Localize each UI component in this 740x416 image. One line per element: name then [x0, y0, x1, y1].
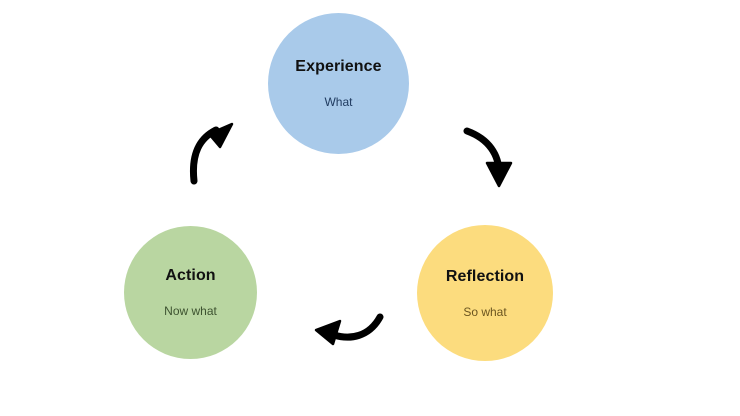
node-reflection-title: Reflection	[446, 269, 524, 285]
node-experience-title: Experience	[295, 59, 381, 75]
arrow-experience-to-reflection-icon	[467, 131, 511, 186]
arrow-action-to-experience-icon	[193, 124, 232, 181]
node-action-title: Action	[165, 268, 215, 284]
node-reflection[interactable]: Reflection So what	[417, 225, 553, 361]
node-experience[interactable]: Experience What	[268, 13, 409, 154]
reflective-cycle-diagram: Experience What Reflection So what Actio…	[0, 0, 740, 416]
node-action-subtitle: Now what	[164, 305, 217, 317]
node-experience-subtitle: What	[324, 96, 352, 108]
node-reflection-subtitle: So what	[463, 306, 506, 318]
arrow-reflection-to-action-icon	[316, 317, 380, 344]
node-action[interactable]: Action Now what	[124, 226, 257, 359]
